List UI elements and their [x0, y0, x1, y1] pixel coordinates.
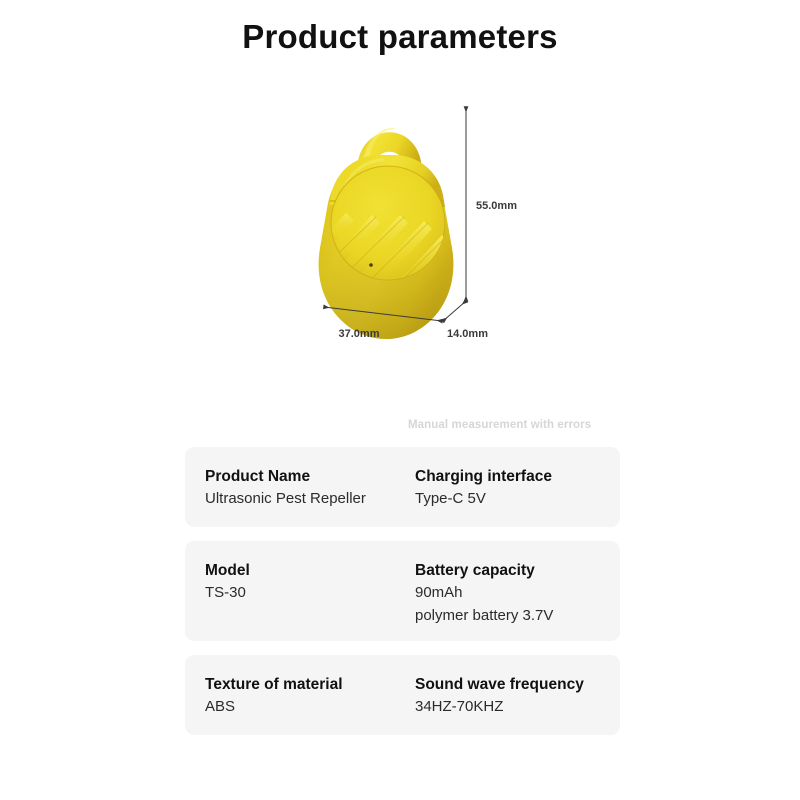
led-indicator-dot [369, 263, 373, 267]
spec-value-secondary: polymer battery 3.7V [415, 605, 620, 628]
spec-card: Model TS-30 Battery capacity 90mAh polym… [185, 541, 620, 641]
product-figure: 55.0mm 37.0mm 14.0mm [0, 75, 800, 405]
spec-label: Model [205, 559, 400, 582]
spec-card: Product Name Ultrasonic Pest Repeller Ch… [185, 447, 620, 527]
spec-label: Charging interface [415, 465, 620, 488]
dimension-line-depth [443, 301, 466, 321]
spec-label: Sound wave frequency [415, 673, 620, 696]
dimension-label-width: 37.0mm [339, 328, 380, 340]
spec-value: 90mAh [415, 582, 620, 605]
spec-cell-right: Battery capacity 90mAh polymer battery 3… [400, 559, 620, 627]
spec-value: Ultrasonic Pest Repeller [205, 488, 400, 511]
spec-cell-right: Charging interface Type-C 5V [400, 465, 620, 511]
spec-value: Type-C 5V [415, 488, 620, 511]
product-illustration-svg: 55.0mm 37.0mm 14.0mm [0, 75, 800, 405]
dimension-label-depth: 14.0mm [447, 328, 488, 340]
spec-cell-left: Model TS-30 [185, 559, 400, 605]
spec-cell-left: Texture of material ABS [185, 673, 400, 719]
spec-list: Product Name Ultrasonic Pest Repeller Ch… [185, 447, 620, 749]
spec-value: TS-30 [205, 582, 400, 605]
spec-cell-left: Product Name Ultrasonic Pest Repeller [185, 465, 400, 511]
dimension-label-height: 55.0mm [476, 200, 517, 212]
measurement-disclaimer: Manual measurement with errors [408, 419, 591, 431]
spec-value: 34HZ-70KHZ [415, 696, 620, 719]
spec-label: Texture of material [205, 673, 400, 696]
spec-label: Battery capacity [415, 559, 620, 582]
spec-value: ABS [205, 696, 400, 719]
page-title: Product parameters [0, 0, 800, 57]
spec-cell-right: Sound wave frequency 34HZ-70KHZ [400, 673, 620, 719]
spec-card: Texture of material ABS Sound wave frequ… [185, 655, 620, 735]
spec-label: Product Name [205, 465, 400, 488]
